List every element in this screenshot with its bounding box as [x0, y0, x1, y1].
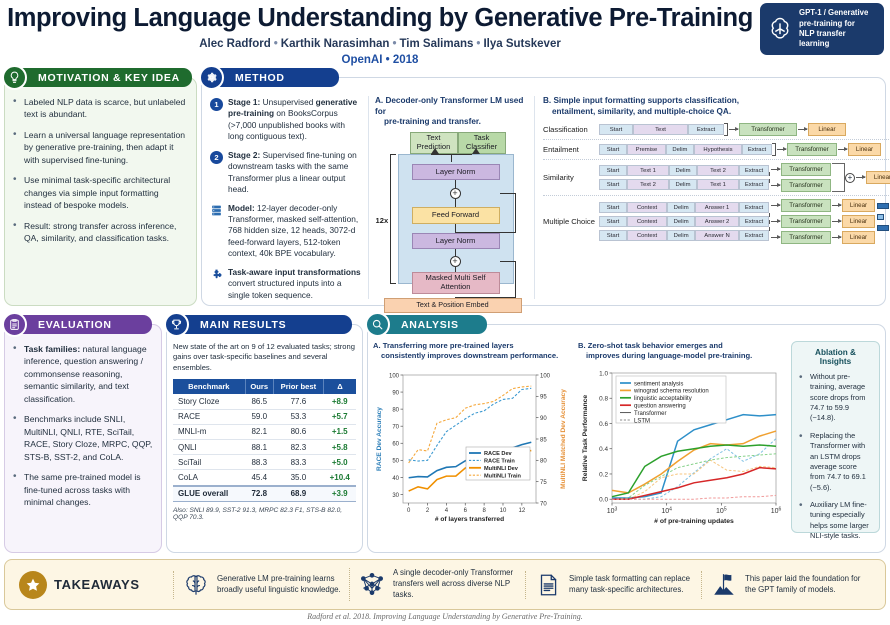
col-benchmark: Benchmark — [173, 379, 245, 394]
cell-benchmark: MNLI-m — [173, 424, 245, 439]
takeaways-label: TAKEAWAYS — [54, 577, 140, 592]
token-start: Start — [599, 124, 633, 135]
step-text-4: Task-aware input transformations convert… — [228, 267, 362, 301]
token-sequence: Start Text Extract — [599, 124, 724, 135]
linear-box: Linear — [842, 199, 875, 212]
linear-box: Linear — [842, 215, 875, 228]
token-start: Start — [599, 230, 627, 241]
results-table: Benchmark Ours Prior best Δ Story Cloze … — [173, 379, 356, 501]
token-sequence: Start Context Delim Answer 2 Extract — [599, 216, 769, 227]
svg-text:10: 10 — [500, 508, 507, 514]
table-row-summary: GLUE overall 72.8 68.9 +3.9 — [173, 486, 356, 502]
token-extract: Extract — [739, 230, 769, 241]
method-step-1: 1 Stage 1: Unsupervised generative pre-t… — [210, 97, 362, 143]
stack-bracket — [390, 154, 396, 284]
list-item: Task families: natural language inferenc… — [13, 343, 153, 405]
evaluation-bullets: Task families: natural language inferenc… — [13, 343, 153, 508]
svg-text:105: 105 — [716, 506, 727, 515]
cell-benchmark: SciTail — [173, 455, 245, 470]
token-premise: Premise — [627, 144, 666, 155]
arrow — [771, 205, 780, 206]
takeaway-text-1: Generative LM pre-training learns broadl… — [217, 574, 341, 595]
arrow — [455, 180, 457, 188]
takeaways-badge: TAKEAWAYS — [13, 571, 173, 599]
chart-b-label: B. — [578, 341, 586, 350]
figure-a-line1: Decoder-only Transformer LM used for — [375, 96, 523, 116]
author-4: Ilya Sutskever — [483, 38, 560, 50]
poster-header: Improving Language Understanding by Gene… — [0, 0, 890, 68]
transformer-linear-group: TransformerLinear TransformerLinear Tran… — [770, 199, 875, 244]
cell-ours: 59.0 — [245, 409, 273, 424]
takeaway-item-4: This paper laid the foundation for the G… — [701, 571, 877, 599]
author-3: Tim Salimans — [399, 38, 473, 50]
block-masked-self-attention: Masked Multi Self Attention — [412, 272, 500, 294]
step-number-2: 2 — [210, 151, 223, 164]
residual-line — [500, 193, 516, 195]
svg-text:RACE Train: RACE Train — [484, 458, 515, 464]
table-header-row: Benchmark Ours Prior best Δ — [173, 379, 356, 394]
results-heading: MAIN RESULTS — [174, 315, 352, 334]
cell-prior: 68.9 — [273, 486, 323, 502]
linear-box: Linear — [808, 123, 846, 136]
task-row-similarity: Similarity Start Text 1 Delim Text 2 Ext… — [543, 163, 890, 192]
figure-a-label: A. — [375, 96, 383, 105]
sequence-bracket — [724, 123, 728, 136]
residual-line — [515, 193, 517, 233]
cell-benchmark: CoLA — [173, 470, 245, 486]
list-item: Labeled NLP data is scarce, but unlabele… — [13, 96, 188, 121]
svg-text:75: 75 — [540, 480, 547, 486]
svg-text:80: 80 — [392, 407, 399, 413]
block-masked-self-attention-label: Masked Multi Self Attention — [413, 274, 499, 291]
token-answer: Answer N — [695, 230, 739, 241]
svg-text:1.0: 1.0 — [599, 370, 608, 377]
token-delim: Delim — [669, 179, 697, 190]
token-sequence: Start Text 2 Delim Text 1 Extract — [599, 179, 769, 190]
evaluation-heading: EVALUATION — [12, 315, 152, 334]
arrowhead — [431, 148, 439, 154]
table-row: CoLA 45.4 35.0 +10.4 — [173, 470, 356, 486]
chart-a-title: A. Transferring more pre-trained layers … — [373, 341, 573, 361]
token-extract: Extract — [739, 216, 769, 227]
results-footnote: Also: SNLI 89.9, SST-2 91.3, MRPC 82.3 F… — [173, 507, 356, 521]
block-layer-norm-bottom: Layer Norm — [412, 233, 500, 249]
cell-prior: 82.3 — [273, 439, 323, 454]
arrow — [431, 154, 472, 156]
step-text-3: Model: 12-layer decoder-only Transformer… — [228, 203, 362, 260]
arrow — [832, 237, 841, 238]
token-extract: Extract — [739, 202, 769, 213]
task-row-entailment: Entailment Start Premise Delim Hypothesi… — [543, 143, 890, 156]
svg-text:# of pre-training updates: # of pre-training updates — [654, 518, 734, 525]
insights-container: Ablation & Insights Without pre-training… — [791, 341, 880, 548]
svg-text:# of layers transferred: # of layers transferred — [435, 516, 504, 523]
analysis-heading: ANALYSIS — [375, 315, 487, 334]
cell-delta: +10.4 — [323, 470, 356, 486]
token-extract: Extract — [739, 179, 769, 190]
list-item: Learn a universal language representatio… — [13, 129, 188, 166]
transformer-box: Transformer — [787, 143, 837, 156]
svg-text:0.4: 0.4 — [599, 446, 608, 453]
svg-text:sentiment analysis: sentiment analysis — [634, 381, 683, 387]
cell-prior: 53.3 — [273, 409, 323, 424]
method-step-3: Model: 12-layer decoder-only Transformer… — [210, 203, 362, 260]
arrow — [771, 221, 780, 222]
cell-ours: 86.5 — [245, 394, 273, 409]
cell-benchmark: RACE — [173, 409, 245, 424]
step-number-1: 1 — [210, 98, 223, 111]
token-extract: Extract — [688, 124, 724, 135]
task-label-classification: Classification — [543, 125, 599, 134]
arrow — [455, 199, 457, 207]
table-row: QNLI 88.1 82.3 +5.8 — [173, 439, 356, 454]
svg-text:RACE Dev: RACE Dev — [484, 451, 513, 457]
svg-text:104: 104 — [661, 506, 672, 515]
svg-text:70: 70 — [392, 424, 399, 430]
col-prior-best: Prior best — [273, 379, 323, 394]
arrow — [838, 149, 847, 150]
token-start: Start — [599, 179, 627, 190]
cell-delta: +5.8 — [323, 439, 356, 454]
list-item: The same pre-trained model is fine-tuned… — [13, 471, 153, 508]
task-label-multiple-choice: Multiple Choice — [543, 217, 599, 226]
figure-a-title: A. Decoder-only Transformer LM used for … — [375, 96, 528, 128]
figure-a: A. Decoder-only Transformer LM used for … — [368, 96, 528, 299]
token-extract: Extract — [742, 144, 772, 155]
token-answer: Answer 2 — [695, 216, 739, 227]
arrow — [832, 205, 841, 206]
svg-text:linguistic acceptability: linguistic acceptability — [634, 396, 692, 402]
results-lead: New state of the art on 9 of 12 evaluate… — [173, 342, 356, 373]
chart-a-svg: 3040506070809010070758085909510002468101… — [373, 363, 573, 543]
task-label-similarity: Similarity — [543, 173, 599, 182]
author-2: Karthik Narasimhan — [281, 38, 390, 50]
footer-citation: Radford et al. 2018. Improving Language … — [0, 612, 890, 621]
svg-text:0.8: 0.8 — [599, 395, 608, 402]
token-text1: Text 1 — [627, 165, 669, 176]
token-start: Start — [599, 144, 627, 155]
gpt1-badge: GPT-1 / Generative pre-training for NLP … — [760, 3, 884, 55]
arrow — [455, 249, 457, 256]
token-delim: Delim — [669, 165, 697, 176]
svg-text:8: 8 — [482, 508, 486, 514]
block-layer-norm-top: Layer Norm — [412, 164, 500, 180]
svg-text:0.0: 0.0 — [599, 496, 608, 503]
cell-benchmark: QNLI — [173, 439, 245, 454]
figure-b-label: B. — [543, 96, 551, 105]
linear-box: Linear — [848, 143, 881, 156]
svg-text:Transformer: Transformer — [634, 411, 666, 417]
table-row: MNLI-m 82.1 80.6 +1.5 — [173, 424, 356, 439]
token-context: Context — [627, 230, 667, 241]
page-title: Improving Language Understanding by Gene… — [0, 2, 890, 32]
takeaway-item-2: A single decoder-only Transformer transf… — [349, 568, 525, 600]
token-extract: Extract — [739, 165, 769, 176]
sequence-bracket — [772, 143, 776, 156]
transformer-box: Transformer — [781, 231, 831, 244]
head-task-classifier: Task Classifier — [458, 132, 506, 154]
method-step-4: Task-aware input transformations convert… — [210, 267, 362, 301]
venue-line: OpenAI • 2018 — [0, 54, 890, 66]
list-item: Replacing the Transformer with an LSTM d… — [799, 431, 872, 493]
token-context: Context — [627, 216, 667, 227]
text-position-embed: Text & Position Embed — [384, 298, 522, 313]
magnifier-icon — [365, 312, 390, 337]
table-row: RACE 59.0 53.3 +5.7 — [173, 409, 356, 424]
poster-root: Improving Language Understanding by Gene… — [0, 0, 890, 625]
token-sequence: Start Context Delim Answer N Extract — [599, 230, 769, 241]
figure-b-line1: Simple input formatting supports classif… — [553, 96, 739, 105]
svg-text:RACE Dev Accuracy: RACE Dev Accuracy — [376, 406, 383, 470]
divider — [543, 195, 890, 196]
network-icon — [358, 570, 386, 598]
gear-icon — [199, 65, 224, 90]
trophy-icon — [164, 312, 189, 337]
transformer-box: Transformer — [781, 215, 831, 228]
svg-text:2: 2 — [426, 508, 430, 514]
arrow — [832, 221, 841, 222]
chart-b-container: B. Zero-shot task behavior emerges and i… — [578, 341, 786, 548]
document-icon — [534, 571, 562, 599]
transformer-box: Transformer — [781, 163, 831, 176]
chart-a-container: A. Transferring more pre-trained layers … — [373, 341, 573, 548]
takeaway-item-1: Generative LM pre-training learns broadl… — [173, 571, 349, 599]
residual-line — [515, 261, 517, 298]
token-sequence: Start Text 1 Delim Text 2 Extract — [599, 165, 769, 176]
task-label-entailment: Entailment — [543, 145, 599, 154]
svg-text:40: 40 — [392, 476, 399, 482]
svg-text:12: 12 — [519, 508, 526, 514]
badge-line-3: NLP transfer learning — [799, 29, 846, 48]
analysis-panel: ANALYSIS A. Transferring more pre-traine… — [367, 315, 886, 553]
token-text1: Text 1 — [697, 179, 739, 190]
col-delta: Δ — [323, 379, 356, 394]
arrow — [798, 129, 807, 130]
mc-sequences: Start Context Delim Answer 1 Extract Sta… — [599, 202, 769, 241]
svg-text:60: 60 — [392, 441, 399, 447]
motivation-heading: MOTIVATION & KEY IDEA — [12, 68, 192, 87]
list-item: Auxiliary LM fine-tuning especially help… — [799, 500, 872, 541]
author-list: Alec Radford•Karthik Narasimhan•Tim Sali… — [0, 38, 890, 50]
residual-add-top: + — [450, 188, 461, 199]
motivation-bullets: Labeled NLP data is scarce, but unlabele… — [13, 96, 188, 245]
cell-delta: +3.9 — [323, 486, 356, 502]
cell-ours: 45.4 — [245, 470, 273, 486]
svg-text:100: 100 — [389, 373, 400, 379]
motivation-panel: MOTIVATION & KEY IDEA Labeled NLP data i… — [4, 68, 197, 306]
method-step-2: 2 Stage 2: Supervised fine-tuning on dow… — [210, 150, 362, 196]
cell-prior: 35.0 — [273, 470, 323, 486]
transformer-box: Transformer — [781, 199, 831, 212]
token-start: Start — [599, 202, 627, 213]
step-text-2: Stage 2: Supervised fine-tuning on downs… — [228, 150, 362, 196]
badge-line-1: GPT-1 / Generative — [799, 8, 868, 17]
svg-text:90: 90 — [540, 416, 547, 422]
token-delim: Delim — [666, 144, 694, 155]
insights-bullets: Without pre-training, average score drop… — [799, 372, 872, 541]
token-sequence: Start Premise Delim Hypothesis Extract — [599, 144, 772, 155]
cell-delta: +8.9 — [323, 394, 356, 409]
svg-text:50: 50 — [392, 458, 399, 464]
cell-delta: +5.0 — [323, 455, 356, 470]
token-delim: Delim — [667, 202, 695, 213]
token-text: Text — [633, 124, 688, 135]
svg-text:0.6: 0.6 — [599, 421, 608, 428]
arrow — [777, 149, 786, 150]
svg-text:6: 6 — [464, 508, 468, 514]
divider — [543, 139, 890, 140]
token-start: Start — [599, 216, 627, 227]
step-text-1: Stage 1: Unsupervised generative pre-tra… — [228, 97, 362, 143]
flag-mountain-icon — [710, 571, 738, 599]
token-text2: Text 2 — [627, 179, 669, 190]
task-row-classification: Classification Start Text Extract Transf… — [543, 123, 890, 136]
task-format-figure: Classification Start Text Extract Transf… — [543, 123, 890, 244]
badge-line-2: pre-training for — [799, 19, 855, 28]
puzzle-icon — [210, 268, 223, 282]
author-1: Alec Radford — [199, 38, 271, 50]
evaluation-panel: EVALUATION Task families: natural langua… — [4, 315, 162, 553]
arrow — [771, 185, 780, 186]
takeaway-item-3: Simple task formatting can replace many … — [525, 571, 701, 599]
cell-ours: 88.1 — [245, 439, 273, 454]
figure-b: B. Simple input formatting supports clas… — [534, 96, 890, 299]
list-item: Result: strong transfer across inference… — [13, 220, 188, 245]
cell-ours: 88.3 — [245, 455, 273, 470]
method-panel: METHOD 1 Stage 1: Unsupervised generativ… — [201, 68, 886, 306]
token-delim: Delim — [667, 230, 695, 241]
cell-benchmark: GLUE overall — [173, 486, 245, 502]
results-panel: MAIN RESULTS New state of the art on 9 o… — [166, 315, 363, 553]
token-delim: Delim — [667, 216, 695, 227]
chart-b-svg: 0.00.20.40.60.81.0103104105106# of pre-t… — [578, 363, 786, 543]
cell-prior: 77.6 — [273, 394, 323, 409]
token-text2: Text 2 — [697, 165, 739, 176]
takeaways-bar: TAKEAWAYS Generative LM pre-training lea… — [4, 559, 886, 610]
svg-text:0: 0 — [407, 508, 411, 514]
svg-text:80: 80 — [540, 458, 547, 464]
list-item: Benchmarks include SNLI, MultiNLI, QNLI,… — [13, 413, 153, 463]
takeaway-text-3: Simple task formatting can replace many … — [569, 574, 693, 595]
arrowhead — [472, 148, 480, 154]
openai-logo-icon — [766, 15, 794, 43]
residual-line — [500, 261, 516, 263]
merge-line — [832, 163, 845, 192]
svg-text:winograd schema resolution: winograd schema resolution — [633, 388, 709, 394]
arrow — [771, 237, 780, 238]
svg-text:70: 70 — [540, 501, 547, 507]
svg-text:100: 100 — [540, 373, 551, 379]
takeaway-text-4: This paper laid the foundation for the G… — [745, 574, 869, 595]
chart-a-label: A. — [373, 341, 381, 350]
badge-text: GPT-1 / Generative pre-training for NLP … — [799, 8, 878, 49]
chart-b-line2: improves during language-model pre-train… — [578, 351, 786, 361]
lightbulb-icon — [2, 65, 27, 90]
svg-text:MultiNLI Matched Dev Accuracy: MultiNLI Matched Dev Accuracy — [560, 388, 567, 488]
svg-text:0.2: 0.2 — [599, 471, 608, 478]
cell-ours: 72.8 — [245, 486, 273, 502]
transformer-diagram: Text Prediction Task Classifier 12x Laye… — [376, 132, 528, 307]
svg-text:LSTM: LSTM — [634, 418, 650, 424]
cell-ours: 82.1 — [245, 424, 273, 439]
svg-text:106: 106 — [771, 506, 782, 515]
svg-text:95: 95 — [540, 394, 547, 400]
chart-b-line1: Zero-shot task behavior emerges and — [588, 341, 723, 350]
col-ours: Ours — [245, 379, 273, 394]
method-heading: METHOD — [209, 68, 339, 87]
residual-add-bottom: + — [450, 256, 461, 267]
server-icon — [210, 204, 223, 218]
softmax-bars — [875, 199, 889, 244]
svg-text:Relative Task Performance: Relative Task Performance — [582, 394, 589, 481]
svg-text:103: 103 — [607, 506, 618, 515]
cell-benchmark: Story Cloze — [173, 394, 245, 409]
cell-delta: +1.5 — [323, 424, 356, 439]
svg-text:85: 85 — [540, 437, 547, 443]
repeat-label: 12x — [376, 216, 389, 225]
table-row: SciTail 88.3 83.3 +5.0 — [173, 455, 356, 470]
transformer-pair: Transformer Transformer — [770, 163, 831, 192]
svg-text:MultiNLI Dev: MultiNLI Dev — [484, 466, 519, 472]
method-steps: 1 Stage 1: Unsupervised generative pre-t… — [210, 96, 362, 299]
svg-text:30: 30 — [392, 493, 399, 499]
similarity-sequences: Start Text 1 Delim Text 2 Extract Start … — [599, 165, 769, 190]
sum-node: + — [845, 173, 855, 183]
brain-icon — [182, 571, 210, 599]
divider — [543, 159, 890, 160]
transformer-box: Transformer — [739, 123, 797, 136]
takeaway-text-2: A single decoder-only Transformer transf… — [393, 568, 517, 600]
list-item: Without pre-training, average score drop… — [799, 372, 872, 424]
svg-text:4: 4 — [445, 508, 449, 514]
list-item: Use minimal task-specific architectural … — [13, 174, 188, 211]
task-row-multiple-choice: Multiple Choice Start Context Delim Answ… — [543, 199, 890, 244]
arrow — [771, 169, 780, 170]
linear-box: Linear — [842, 231, 875, 244]
token-context: Context — [627, 202, 667, 213]
token-hypothesis: Hypothesis — [694, 144, 742, 155]
linear-box: Linear — [866, 171, 890, 184]
svg-text:question answering: question answering — [634, 403, 686, 409]
svg-text:90: 90 — [392, 390, 399, 396]
block-feed-forward: Feed Forward — [412, 207, 500, 224]
table-row: Story Cloze 86.5 77.6 +8.9 — [173, 394, 356, 409]
transformer-box: Transformer — [781, 179, 831, 192]
arrow — [856, 177, 865, 178]
svg-text:MultiNLI Train: MultiNLI Train — [484, 473, 522, 479]
figure-a-line2: pre-training and transfer. — [375, 117, 528, 128]
chart-a-line2: consistently improves downstream perform… — [373, 351, 573, 361]
token-start: Start — [599, 165, 627, 176]
chart-a-line1: Transferring more pre-trained layers — [383, 341, 514, 350]
figure-b-line2: entailment, similarity, and multiple-cho… — [543, 107, 890, 118]
token-answer: Answer 1 — [695, 202, 739, 213]
clipboard-icon — [2, 312, 27, 337]
cell-prior: 80.6 — [273, 424, 323, 439]
figure-b-title: B. Simple input formatting supports clas… — [543, 96, 890, 117]
insights-title: Ablation & Insights — [799, 348, 872, 366]
cell-delta: +5.7 — [323, 409, 356, 424]
ablation-insights-box: Ablation & Insights Without pre-training… — [791, 341, 880, 533]
star-icon — [19, 571, 47, 599]
arrow — [729, 129, 738, 130]
cell-prior: 83.3 — [273, 455, 323, 470]
token-sequence: Start Context Delim Answer 1 Extract — [599, 202, 769, 213]
chart-b-title: B. Zero-shot task behavior emerges and i… — [578, 341, 786, 361]
